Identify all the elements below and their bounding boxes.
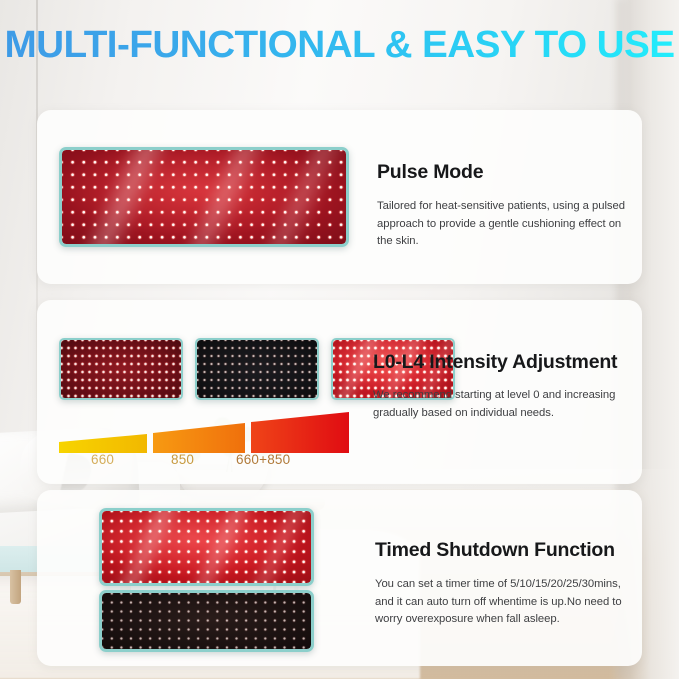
card-title-timed-shutdown: Timed Shutdown Function (375, 540, 615, 561)
intensity-wedge-labels: 660 850 660+850 (59, 452, 359, 470)
red-light-pad-timer-off (99, 590, 314, 652)
intensity-wedge-svg (59, 412, 359, 454)
intensity-wedge-bar (59, 412, 359, 454)
card-body-pulse-mode: Tailored for heat-sensitive patients, us… (377, 198, 635, 251)
led-grid (102, 511, 311, 583)
red-light-pad-level-low (59, 338, 183, 400)
wedge-label-660-850: 660+850 (236, 452, 290, 467)
card-body-timed-shutdown: You can set a timer time of 5/10/15/20/2… (375, 576, 637, 629)
wedge-segment-660-850 (251, 412, 349, 453)
sofa-leg (10, 570, 21, 604)
feature-card-timed-shutdown: Timed Shutdown Function You can set a ti… (37, 490, 642, 666)
page-title: MULTI-FUNCTIONAL & EASY TO USE (0, 26, 679, 64)
led-grid (197, 340, 317, 398)
wedge-segment-660 (59, 434, 147, 453)
wedge-label-660: 660 (91, 452, 114, 467)
wedge-label-850: 850 (171, 452, 194, 467)
red-light-pad-level-off (195, 338, 319, 400)
card-title-pulse-mode: Pulse Mode (377, 162, 483, 183)
card-body-intensity-adjustment: We recommend starting at level 0 and inc… (373, 387, 635, 422)
infographic-page: MULTI-FUNCTIONAL & EASY TO USE Pulse Mod… (0, 0, 679, 679)
led-grid (102, 593, 311, 649)
feature-card-intensity-adjustment: 660 850 660+850 L0-L4 Intensity Adjustme… (37, 300, 642, 484)
led-grid (62, 150, 346, 244)
wedge-segment-850 (153, 423, 245, 453)
red-light-pad-pulse (59, 147, 349, 247)
led-grid (61, 340, 181, 398)
red-light-pad-timer-on (99, 508, 314, 586)
card-title-intensity-adjustment: L0-L4 Intensity Adjustment (373, 352, 617, 373)
feature-card-pulse-mode: Pulse Mode Tailored for heat-sensitive p… (37, 110, 642, 284)
